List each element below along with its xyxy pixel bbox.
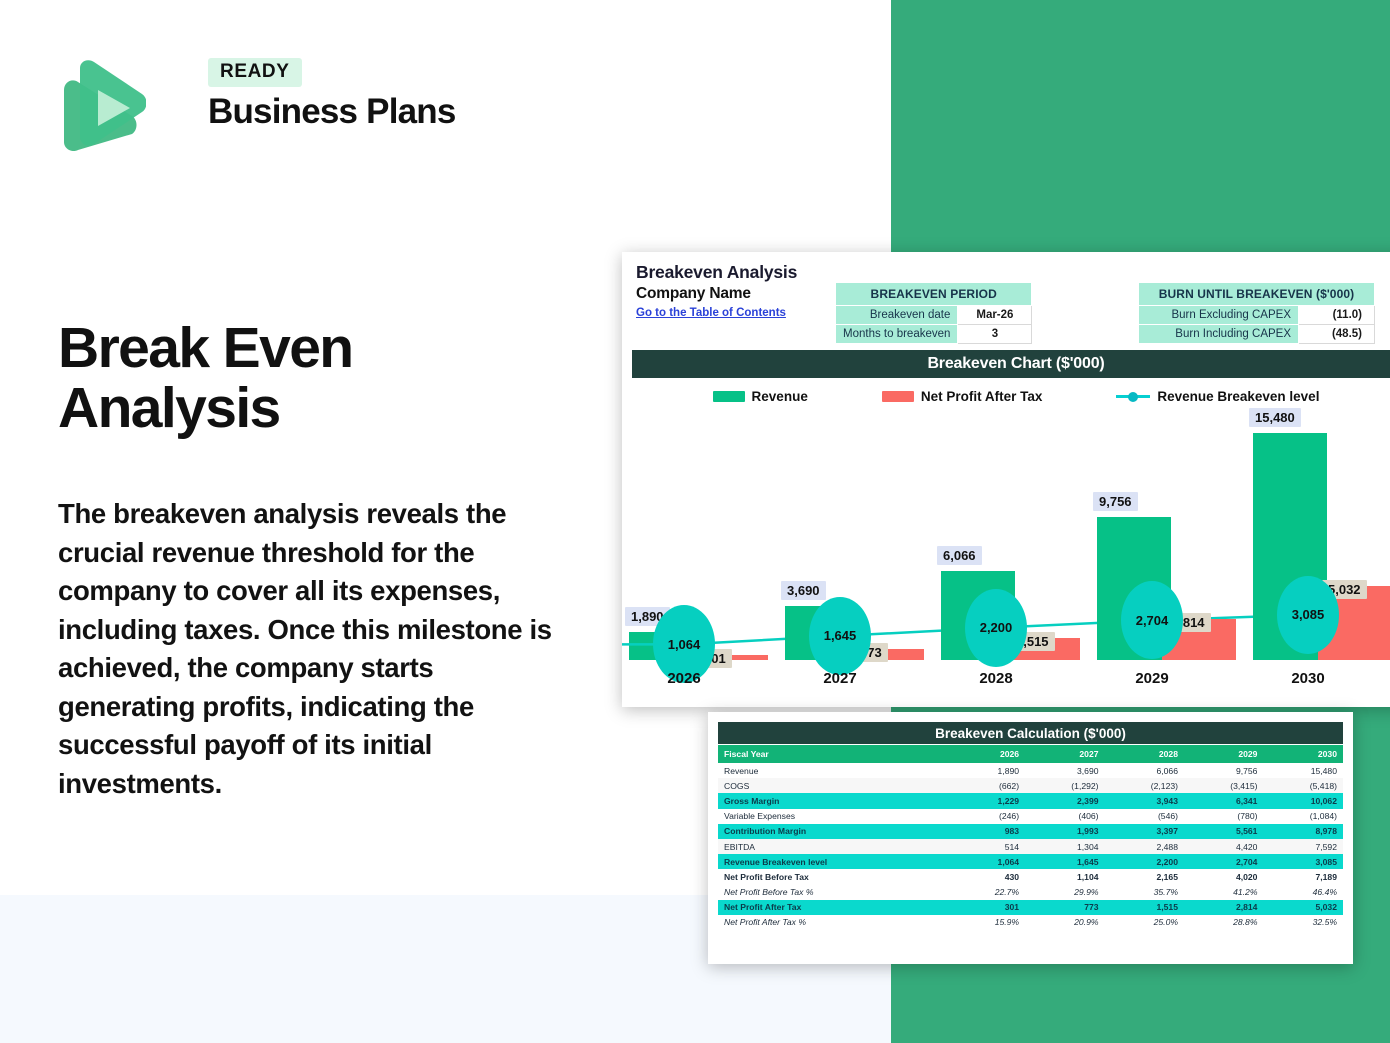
cell-value: 15.9% [951,915,1025,930]
cell-value: (662) [951,778,1025,793]
cell-value: 29.9% [1025,885,1104,900]
cell-value: 773 [1025,900,1104,915]
breakeven-chart-plot: 1,8903011,0643,6907731,6456,0661,5152,20… [636,418,1390,660]
table-body: Revenue1,8903,6906,0669,75615,480COGS(66… [718,763,1343,930]
table-row: EBITDA5141,3042,4884,4207,592 [718,839,1343,854]
cell-value: 5,561 [1184,824,1263,839]
cell-value: 25.0% [1105,915,1184,930]
row-label: Revenue Breakeven level [718,854,951,869]
cell-value: 41.2% [1184,885,1263,900]
legend-label-revenue: Revenue [752,389,808,404]
cell-value: 1,229 [951,793,1025,808]
cell-value: (780) [1184,809,1263,824]
table-row: Net Profit After Tax %15.9%20.9%25.0%28.… [718,915,1343,930]
breakeven-data-label: 1,064 [668,637,701,652]
x-axis-tick-label: 2030 [1268,670,1348,687]
breakeven-date-label: Breakeven date [836,306,958,325]
cell-value: 22.7% [951,885,1025,900]
cell-value: 1,515 [1105,900,1184,915]
breakeven-data-label: 1,645 [824,628,857,643]
table-row: COGS(662)(1,292)(2,123)(3,415)(5,418) [718,778,1343,793]
cell-value: (246) [951,809,1025,824]
breakeven-calculation-panel: Breakeven Calculation ($'000) Fiscal Yea… [708,712,1353,964]
cell-value: 4,020 [1184,869,1263,884]
cell-value: 46.4% [1263,885,1343,900]
cell-value: 32.5% [1263,915,1343,930]
table-row: Revenue Breakeven level1,0641,6452,2002,… [718,854,1343,869]
breakeven-date-value[interactable]: Mar-26 [958,306,1032,325]
cell-value: 2,488 [1105,839,1184,854]
row-label: Variable Expenses [718,809,951,824]
ready-badge: READY [208,58,302,87]
breakeven-data-label: 2,704 [1136,613,1169,628]
legend-item-breakeven[interactable]: Revenue Breakeven level [1116,389,1319,404]
col-header-2028: 2028 [1105,745,1184,763]
cell-value: 10,062 [1263,793,1343,808]
cell-value: 1,304 [1025,839,1104,854]
revenue-data-label: 15,480 [1249,408,1301,427]
cell-value: 3,397 [1105,824,1184,839]
cell-value: 35.7% [1105,885,1184,900]
breakeven-marker: 2,200 [965,589,1027,667]
revenue-data-label: 3,690 [781,581,826,600]
cell-value: 1,104 [1025,869,1104,884]
breakeven-data-label: 2,200 [980,620,1013,635]
x-axis-tick-label: 2026 [644,670,724,687]
row-label: Net Profit Before Tax % [718,885,951,900]
col-header-2027: 2027 [1025,745,1104,763]
cell-value: 7,189 [1263,869,1343,884]
breakeven-line-swatch-icon [1116,391,1150,402]
x-axis-tick-label: 2027 [800,670,880,687]
row-label: Revenue [718,763,951,778]
cell-value: (1,084) [1263,809,1343,824]
cell-value: 2,165 [1105,869,1184,884]
cell-value: (546) [1105,809,1184,824]
calculation-title-banner: Breakeven Calculation ($'000) [718,722,1343,744]
table-of-contents-link[interactable]: Go to the Table of Contents [636,307,786,319]
cell-value: 2,704 [1184,854,1263,869]
play-triangle-logo-icon [58,60,146,152]
cell-value: 3,690 [1025,763,1104,778]
cell-value: 2,399 [1025,793,1104,808]
cell-value: 1,993 [1025,824,1104,839]
breakeven-period-header: BREAKEVEN PERIOD [836,283,1032,306]
cell-value: 4,420 [1184,839,1263,854]
cell-value: 3,085 [1263,854,1343,869]
row-label: EBITDA [718,839,951,854]
cell-value: 15,480 [1263,763,1343,778]
row-label: COGS [718,778,951,793]
cell-value: 1,645 [1025,854,1104,869]
breakeven-marker: 1,645 [809,597,871,675]
months-to-breakeven-value[interactable]: 3 [958,325,1032,344]
cell-value: 8,978 [1263,824,1343,839]
cell-value: 2,814 [1184,900,1263,915]
cell-value: 28.8% [1184,915,1263,930]
legend-item-npat[interactable]: Net Profit After Tax [882,389,1043,404]
cell-value: 7,592 [1263,839,1343,854]
sheet-title: Breakeven Analysis [636,262,1390,283]
row-label: Contribution Margin [718,824,951,839]
chart-legend: Revenue Net Profit After Tax Revenue Bre… [632,384,1390,408]
cell-value: 3,943 [1105,793,1184,808]
revenue-data-label: 9,756 [1093,492,1138,511]
cell-value: 983 [951,824,1025,839]
revenue-swatch-icon [713,391,745,402]
col-header-fiscal-year: Fiscal Year [718,745,951,763]
breakeven-marker: 3,085 [1277,576,1339,654]
cell-value: 6,341 [1184,793,1263,808]
breakeven-calculation-table: Fiscal Year20262027202820292030 Revenue1… [718,745,1343,930]
row-label: Net Profit After Tax % [718,915,951,930]
burn-until-breakeven-table: BURN UNTIL BREAKEVEN ($'000) Burn Exclud… [1138,282,1375,344]
row-label: Net Profit Before Tax [718,869,951,884]
cell-value: 6,066 [1105,763,1184,778]
x-axis-tick-label: 2028 [956,670,1036,687]
table-row: Net Profit Before Tax %22.7%29.9%35.7%41… [718,885,1343,900]
x-axis-tick-label: 2029 [1112,670,1192,687]
cell-value: 514 [951,839,1025,854]
npat-swatch-icon [882,391,914,402]
cell-value: (5,418) [1263,778,1343,793]
breakeven-data-label: 3,085 [1292,607,1325,622]
breakeven-marker: 2,704 [1121,581,1183,659]
page-title: Break Even Analysis [58,318,578,439]
burn-including-capex-value[interactable]: (48.5) [1299,325,1375,344]
burn-excluding-capex-label: Burn Excluding CAPEX [1139,306,1299,325]
table-row: Revenue1,8903,6906,0669,75615,480 [718,763,1343,778]
col-header-2029: 2029 [1184,745,1263,763]
cell-value: 430 [951,869,1025,884]
row-label: Gross Margin [718,793,951,808]
table-row: Contribution Margin9831,9933,3975,5618,9… [718,824,1343,839]
cell-value: 301 [951,900,1025,915]
legend-label-breakeven: Revenue Breakeven level [1157,389,1319,404]
cell-value: (406) [1025,809,1104,824]
table-row: Net Profit Before Tax4301,1042,1654,0207… [718,869,1343,884]
cell-value: (3,415) [1184,778,1263,793]
chart-title-banner: Breakeven Chart ($'000) [632,350,1390,378]
cell-value: (2,123) [1105,778,1184,793]
burn-excluding-capex-value[interactable]: (11.0) [1299,306,1375,325]
cell-value: 1,890 [951,763,1025,778]
page-body-text: The breakeven analysis reveals the cruci… [58,495,553,803]
col-header-2026: 2026 [951,745,1025,763]
brand-logo: READY Business Plans [58,58,438,158]
revenue-data-label: 6,066 [937,546,982,565]
table-row: Gross Margin1,2292,3993,9436,34110,062 [718,793,1343,808]
burn-including-capex-label: Burn Including CAPEX [1139,325,1299,344]
col-header-2030: 2030 [1263,745,1343,763]
legend-item-revenue[interactable]: Revenue [713,389,808,404]
cell-value: 9,756 [1184,763,1263,778]
breakeven-analysis-panel: Breakeven Analysis Company Name Go to th… [622,252,1390,707]
brand-wordmark: READY Business Plans [208,58,498,131]
burn-header: BURN UNTIL BREAKEVEN ($'000) [1139,283,1375,306]
table-header-row: Fiscal Year20262027202820292030 [718,745,1343,763]
chart-x-axis: 20262027202820292030 [636,670,1390,694]
table-row: Variable Expenses(246)(406)(546)(780)(1,… [718,809,1343,824]
cell-value: 5,032 [1263,900,1343,915]
table-row: Net Profit After Tax3017731,5152,8145,03… [718,900,1343,915]
breakeven-period-table: BREAKEVEN PERIOD Breakeven date Mar-26 M… [835,282,1032,344]
months-to-breakeven-label: Months to breakeven [836,325,958,344]
brand-name: Business Plans [208,94,498,131]
cell-value: 1,064 [951,854,1025,869]
legend-label-npat: Net Profit After Tax [921,389,1043,404]
cell-value: (1,292) [1025,778,1104,793]
cell-value: 2,200 [1105,854,1184,869]
row-label: Net Profit After Tax [718,900,951,915]
cell-value: 20.9% [1025,915,1104,930]
